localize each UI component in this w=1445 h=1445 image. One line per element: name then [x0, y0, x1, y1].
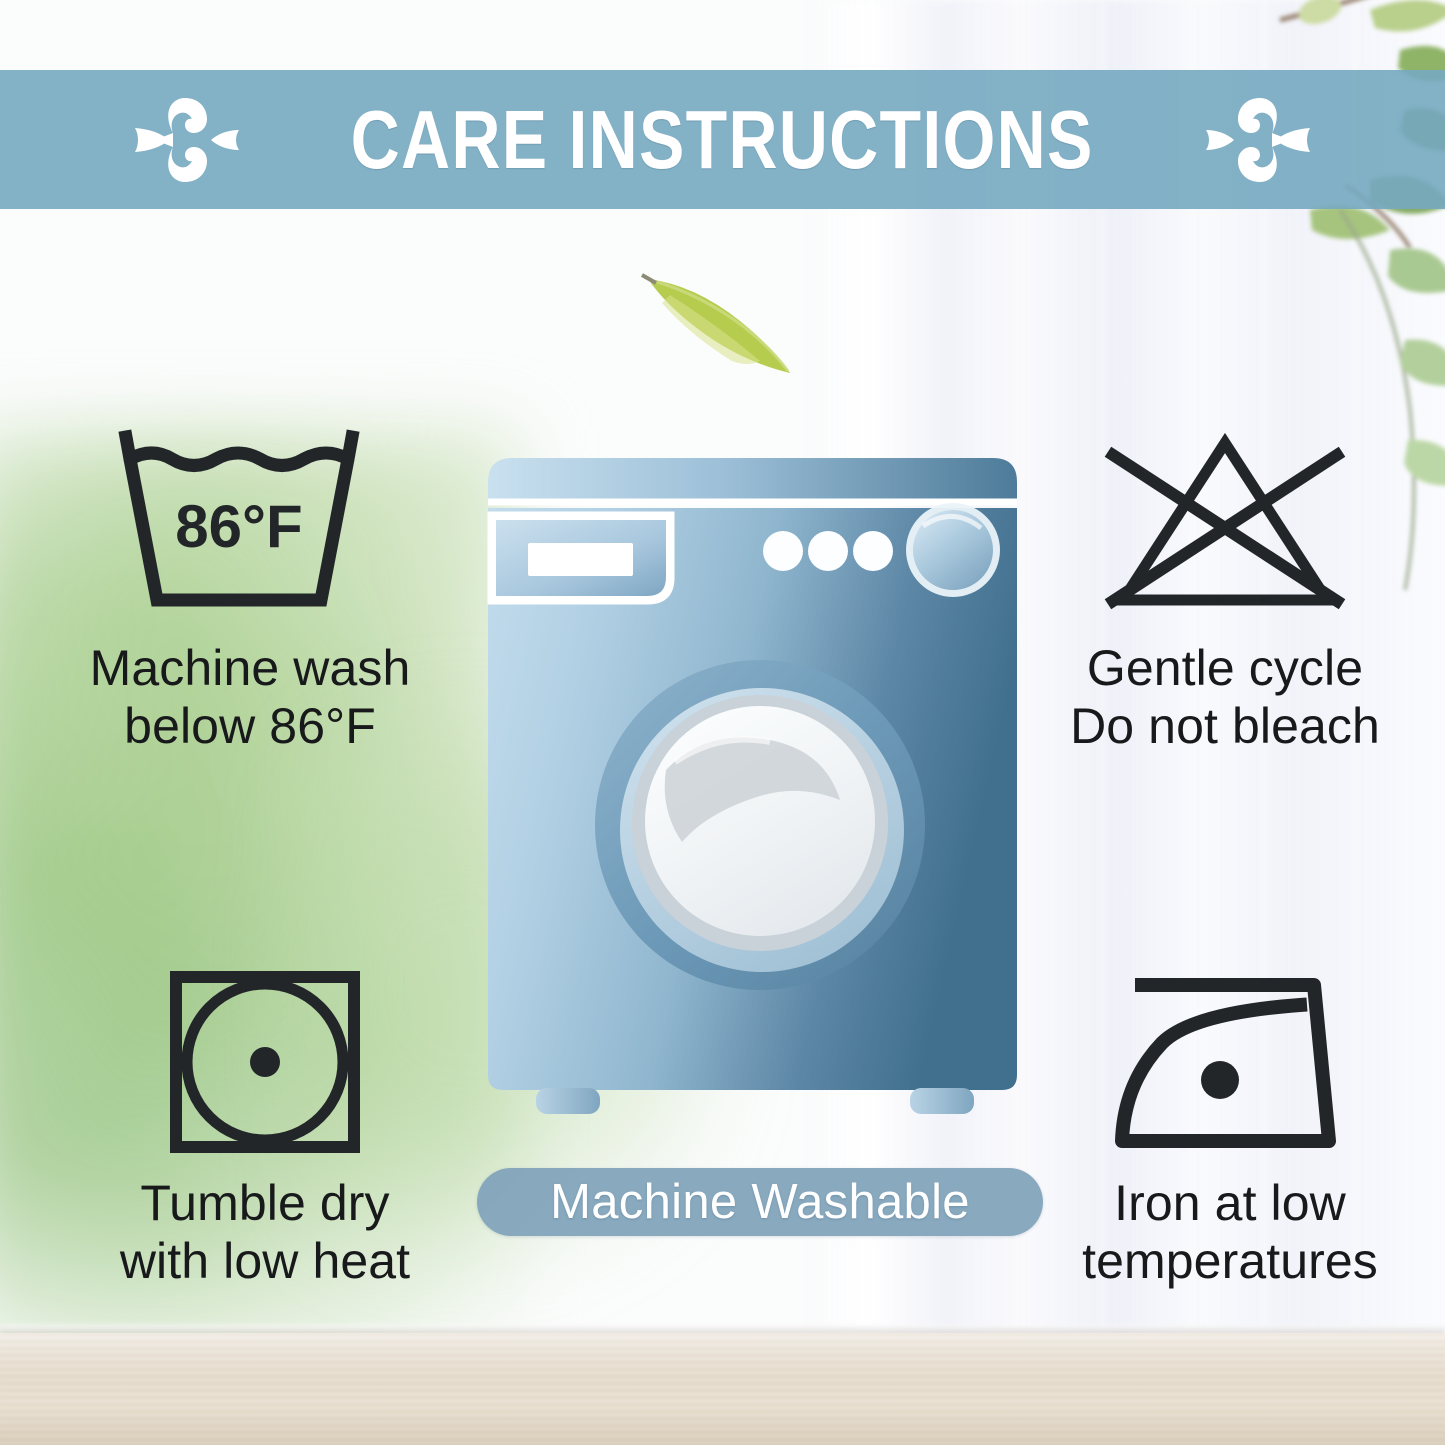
washer-foot [536, 1088, 600, 1114]
washer-foot [910, 1088, 974, 1114]
header-banner: CARE INSTRUCTIONS [0, 70, 1445, 209]
wash-tub-icon: 86°F [110, 425, 390, 625]
machine-washable-badge: Machine Washable [477, 1168, 1043, 1236]
care-item-machine-wash: 86°F Machine wash below 86°F [35, 425, 465, 755]
fleur-de-lis-icon [1202, 92, 1320, 188]
page-title: CARE INSTRUCTIONS [351, 98, 1094, 181]
care-item-do-not-bleach: Gentle cycle Do not bleach [1010, 425, 1440, 755]
care-label-do-not-bleach: Gentle cycle Do not bleach [1070, 639, 1380, 755]
control-dot[interactable] [763, 531, 803, 571]
washer-top-lid [488, 458, 1017, 502]
control-dot[interactable] [853, 531, 893, 571]
low-temperature-dot [1201, 1061, 1239, 1099]
green-leaf-icon [640, 265, 800, 380]
care-item-iron-low: Iron at low temperatures [1020, 965, 1440, 1290]
care-label-machine-wash: Machine wash below 86°F [90, 639, 411, 755]
wash-temperature-value: 86°F [175, 493, 302, 560]
infographic-canvas: CARE INSTRUCTIONS 86°F Machine wash belo… [0, 0, 1445, 1445]
care-label-tumble-dry: Tumble dry with low heat [120, 1174, 410, 1290]
fleur-de-lis-icon [125, 92, 243, 188]
control-dot[interactable] [808, 531, 848, 571]
background-table [0, 1333, 1445, 1445]
care-label-iron-low: Iron at low temperatures [1082, 1174, 1378, 1290]
drawer-handle-slot [528, 543, 633, 576]
care-item-tumble-dry: Tumble dry with low heat [55, 965, 475, 1290]
iron-icon [1100, 965, 1360, 1160]
tumble-dry-icon [160, 965, 370, 1160]
badge-label: Machine Washable [550, 1178, 970, 1227]
washing-machine-illustration [470, 440, 1035, 1130]
crossed-triangle-icon [1085, 425, 1365, 625]
low-heat-dot [250, 1047, 280, 1077]
